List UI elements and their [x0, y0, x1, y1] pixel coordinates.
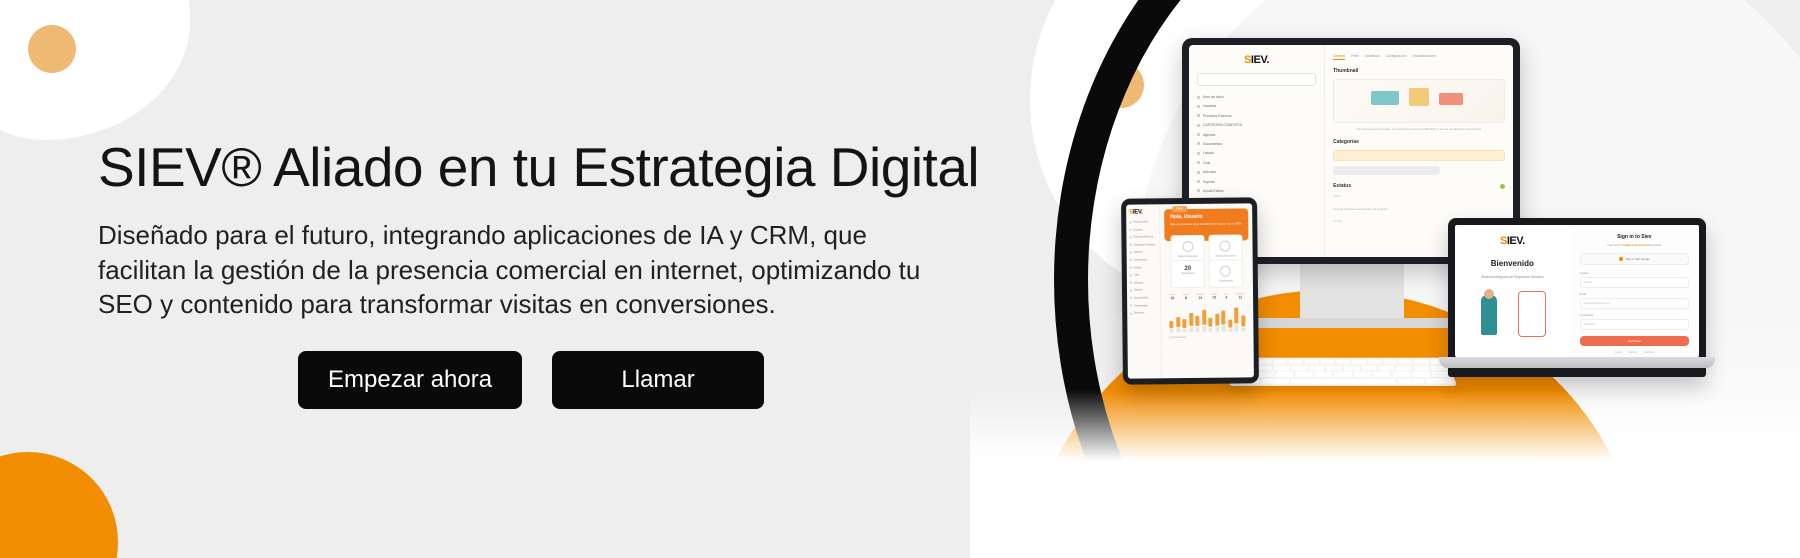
tablet-menu-item-label: Chat [1134, 274, 1139, 277]
tablet-chart-bar [1195, 316, 1199, 332]
tablet-menu-item[interactable]: Usuarios [1129, 228, 1156, 231]
monitor-tab[interactable]: Perfil [1351, 54, 1359, 60]
tablet-menu-item-label: Documentos [1134, 258, 1147, 261]
bullet-icon [1197, 105, 1200, 108]
bullet-icon [1197, 171, 1200, 174]
monitor-menu-item-label: Soporte [1203, 180, 1215, 184]
laptop-device: SIEV. Bienvenido Sistema Integrado de Em… [1448, 218, 1706, 377]
monitor-menu-item[interactable]: Documentos [1197, 142, 1316, 146]
bullet-icon [1197, 180, 1200, 183]
tablet-menu-item-label: Artículos [1134, 281, 1143, 284]
google-signin-button[interactable]: Sign in with Google [1580, 253, 1689, 265]
monitor-thumbnail-heading: Thumbnail [1333, 68, 1505, 74]
laptop-field-input[interactable]: Usuario [1580, 277, 1689, 288]
bullet-icon [1130, 289, 1132, 291]
keyboard-row [1241, 360, 1445, 365]
bullet-icon [1130, 274, 1132, 276]
tablet-stat: Clientes14 [1196, 294, 1204, 300]
tablet-chart-bar [1215, 314, 1219, 332]
hero-banner: SIEV. Área de InicioUsuariosProcesos Ext… [0, 0, 1800, 558]
laptop-field-label: Contraseña [1580, 314, 1689, 317]
bullet-icon [1130, 282, 1132, 284]
monitor-menu-item[interactable]: Articulos [1197, 170, 1316, 174]
monitor-menu-item-label: Ayuda Estilos [1203, 189, 1223, 193]
monitor-menu-item-label: Articulos [1203, 170, 1216, 174]
laptop-form-fields: UsuarioUsuarioEmailejemplo@dominio.comCo… [1580, 272, 1689, 330]
tablet-tile-icon [1182, 241, 1193, 252]
monitor-menu-list: Área de InicioUsuariosProcesos ExternosC… [1197, 95, 1316, 212]
illustration-head-icon [1484, 289, 1494, 299]
tablet-chart-bar [1235, 308, 1239, 332]
laptop-illustration-icon [1463, 287, 1562, 341]
monitor-menu-item[interactable]: Usuarios [1197, 104, 1316, 108]
bullet-icon [1129, 229, 1131, 231]
monitor-menu-item-label: Procesos Externos [1203, 114, 1231, 118]
tablet-tile-icon [1220, 265, 1231, 276]
monitor-menu-item[interactable]: CATEGORIA COMPLETA [1197, 123, 1316, 127]
laptop-signin-panel: Sign in to Siev New here? Create an Acco… [1570, 225, 1699, 357]
tablet-menu-item-label: Área de Inicio [1133, 220, 1148, 223]
tablet-stat-value: 75 [1211, 296, 1217, 300]
bullet-icon [1197, 133, 1200, 136]
monitor-tab[interactable]: Visualizaciones [1413, 54, 1436, 60]
tablet-stat-value: 8 [1183, 296, 1189, 300]
laptop-footer-link[interactable]: Soporte [1629, 351, 1637, 354]
tablet-chart-bar [1228, 319, 1232, 331]
keyboard[interactable] [1229, 358, 1458, 386]
logo-rest: IEV. [1507, 235, 1525, 247]
monitor-thumbnail-preview [1333, 79, 1505, 123]
tablet-main-panel: Panel Hola, Usuario Este es el resumen d… [1160, 203, 1254, 378]
tablet-menu-item[interactable]: Soporte [1130, 289, 1157, 292]
laptop-welcome-heading: Bienvenido [1463, 259, 1562, 268]
hero-visual-panel: SIEV. Área de InicioUsuariosProcesos Ext… [970, 0, 1800, 558]
tablet-menu-item[interactable]: Perfiles [1130, 266, 1157, 269]
tablet-menu-item-label: Oportunidad [1134, 304, 1147, 307]
tablet-tile-label: Suscriptores [1174, 271, 1202, 275]
tablet-menu-item-label: Soporte [1134, 289, 1142, 292]
tablet-stat-tile[interactable]: 20Suscriptores [1171, 259, 1205, 288]
bullet-icon [1130, 312, 1132, 314]
bullet-icon [1197, 152, 1200, 155]
monitor-menu-item[interactable]: Soporte [1197, 180, 1316, 184]
keyboard-row [1233, 378, 1454, 383]
bullet-icon [1130, 244, 1132, 246]
monitor-workspace-select[interactable] [1197, 73, 1316, 86]
laptop-signin-note: New here? Create an Account Bienvenido [1580, 243, 1689, 247]
monitor-tab[interactable]: General [1333, 54, 1345, 60]
bullet-icon [1197, 161, 1200, 164]
tablet-menu-item[interactable]: Procesos Externos [1129, 236, 1156, 239]
tablet-device: SIEV. Área de InicioUsuariosProcesos Ext… [1121, 197, 1259, 384]
monitor-tab-bar: GeneralPerfilAnalíticasConfiguraciónVisu… [1333, 54, 1505, 60]
tablet-sidebar: SIEV. Área de InicioUsuariosProcesos Ext… [1126, 204, 1162, 378]
thumb-shape-b [1409, 88, 1429, 106]
laptop-signin-title: Sign in to Siev [1580, 234, 1689, 240]
tablet-stat-value: 32 [1169, 296, 1176, 300]
tablet-menu-item[interactable]: Área de Inicio [1129, 220, 1156, 223]
page-title: SIEV® Aliado en tu Estrategia Digital [98, 138, 968, 196]
bullet-icon [1130, 305, 1132, 307]
tablet-chart-bar [1169, 322, 1173, 333]
monitor-menu-item-label: Listado [1203, 151, 1214, 155]
tablet-menu-item-label: Ayuda Estilos [1134, 296, 1148, 299]
tablet-tile-row-bottom: 20SuscriptoresColaboración [1171, 259, 1243, 288]
monitor-status-row: Estatus [1333, 183, 1505, 189]
tablet-stat-value: 14 [1196, 296, 1204, 300]
laptop-field-label: Email [1580, 293, 1689, 296]
tablet-menu-item[interactable]: Documentos [1130, 258, 1157, 261]
tablet-menu-item[interactable]: Ayuda Estilos [1130, 296, 1157, 299]
laptop-screen: SIEV. Bienvenido Sistema Integrado de Em… [1455, 225, 1699, 357]
tablet-chart-bar [1176, 317, 1180, 332]
tablet-stat: Leads75 [1211, 294, 1217, 300]
tablet-badge: Panel [1172, 206, 1187, 212]
laptop-welcome-sub: Sistema Integrado de Empresas Virtuales [1463, 275, 1562, 279]
tablet-menu-item-label: Resumen [1134, 312, 1144, 315]
monitor-menu-item[interactable]: Procesos Externos [1197, 114, 1316, 118]
bullet-icon [1197, 142, 1200, 145]
google-signin-label: Sign in with Google [1626, 257, 1650, 261]
signin-note-suffix: Bienvenido [1647, 243, 1661, 247]
tablet-tile-icon [1220, 240, 1231, 251]
tablet-stat: Total/Mes11 [1236, 294, 1245, 300]
logo-rest: IEV. [1133, 209, 1143, 215]
hero-actions: Empezar ahora Llamar [98, 351, 968, 409]
laptop-field-label: Usuario [1580, 272, 1689, 275]
laptop-lid: SIEV. Bienvenido Sistema Integrado de Em… [1448, 218, 1706, 377]
laptop-field-input[interactable]: ejemplo@dominio.com [1580, 298, 1689, 309]
monitor-menu-item[interactable]: Ayuda Estilos [1197, 189, 1316, 193]
tablet-stat-row: Ventas32Visitas8Clientes14Leads75Tasa4To… [1165, 293, 1249, 300]
monitor-menu-item[interactable]: Listado [1197, 151, 1316, 155]
signin-create-account-link[interactable]: Create an Account [1622, 243, 1647, 247]
bullet-icon [1130, 267, 1132, 269]
laptop-welcome-panel: SIEV. Bienvenido Sistema Integrado de Em… [1455, 225, 1570, 357]
device-mockups: SIEV. Área de InicioUsuariosProcesos Ext… [970, 0, 1800, 558]
tablet-chart-bar [1189, 313, 1193, 332]
decor-orange-circle-icon [0, 452, 118, 558]
tablet-menu-item[interactable]: Agencia [1130, 251, 1157, 254]
monitor-menu-item-label: Usuarios [1203, 104, 1216, 108]
keyboard-row [1238, 365, 1447, 370]
tablet-chart-bar [1208, 318, 1212, 332]
laptop-logo: SIEV. [1463, 235, 1562, 247]
call-button[interactable]: Llamar [552, 351, 764, 409]
monitor-menu-item-label: Agencia [1203, 133, 1215, 137]
monitor-menu-item-label: Documentos [1203, 142, 1222, 146]
logo-rest: IEV. [1251, 54, 1269, 66]
tablet-stat-tile[interactable]: Colaboración [1209, 259, 1243, 288]
tablet-tile-label: Colaboración [1212, 279, 1240, 283]
tablet-menu-item[interactable]: Oportunidad [1130, 304, 1157, 307]
tablet-stat-value: 4 [1224, 296, 1229, 300]
tablet-chart-bar [1221, 311, 1225, 332]
laptop-base [1439, 357, 1715, 368]
thumb-shape-c [1439, 93, 1463, 106]
tablet-tile-label: Medios Categorías [1174, 255, 1202, 259]
bullet-icon [1130, 259, 1132, 261]
tablet-bar-chart [1165, 305, 1249, 332]
tablet-stat: Ventas32 [1169, 294, 1176, 300]
tablet-tile-label: Nuevos Elementos [1212, 254, 1240, 258]
bullet-icon [1197, 189, 1200, 192]
tablet-menu-item-label: Perfiles [1134, 266, 1142, 269]
tablet-stat: Tasa4 [1224, 294, 1229, 300]
start-now-button[interactable]: Empezar ahora [298, 351, 522, 409]
thumb-shape-a [1371, 91, 1398, 105]
google-icon [1619, 257, 1623, 261]
tablet-chart-bar [1241, 316, 1245, 332]
tablet-menu-item[interactable]: Categoría Completa [1129, 243, 1156, 246]
illustration-person-icon [1481, 295, 1497, 335]
tablet-menu-item-label: Usuarios [1133, 228, 1142, 231]
tablet-stat: Visitas8 [1183, 294, 1189, 300]
bullet-icon [1130, 251, 1132, 253]
bullet-icon [1197, 96, 1200, 99]
tablet-chart-bar [1202, 309, 1206, 331]
tablet-menu-item[interactable]: Resumen [1130, 311, 1157, 314]
monitor-menu-item-label: Área de Inicio [1203, 95, 1224, 99]
monitor-status-label: Activo [1333, 194, 1505, 198]
monitor-categories-heading: Categorías [1333, 139, 1505, 145]
bullet-icon [1129, 221, 1131, 223]
monitor-field-label: Generar una breve descripción del produc… [1333, 207, 1505, 211]
tablet-menu-item-label: Agencia [1134, 251, 1143, 254]
laptop-footer-link[interactable]: Términos [1644, 351, 1654, 354]
bullet-icon [1130, 297, 1132, 299]
laptop-field-input[interactable]: Password [1580, 319, 1689, 330]
tablet-menu-list: Área de InicioUsuariosProcesos ExternosC… [1129, 220, 1157, 314]
illustration-phone-icon [1518, 291, 1546, 337]
tablet-greeting-sub: Este es el resumen de la actividad de tu… [1170, 222, 1242, 227]
laptop-footer-link[interactable]: Ayuda [1615, 351, 1622, 354]
keyboard-row [1236, 372, 1451, 377]
decor-white-blob-icon [0, 0, 190, 140]
desk-surface [970, 390, 1800, 558]
monitor-tab[interactable]: Configuración [1386, 54, 1407, 60]
monitor-category-chip[interactable] [1333, 150, 1505, 161]
tablet-logo: SIEV. [1129, 209, 1156, 215]
tablet-stat-value: 11 [1236, 296, 1245, 300]
decor-tan-circle-icon [28, 25, 76, 73]
tablet-footer-user: Usuario Prueba [1165, 331, 1249, 339]
tablet-greeting: Hola, Usuario [1170, 213, 1242, 220]
bullet-icon [1197, 114, 1200, 117]
monitor-logo: SIEV. [1197, 54, 1316, 66]
laptop-footer-links: AyudaSoporteTérminos [1580, 351, 1689, 354]
bullet-icon [1129, 236, 1131, 238]
monitor-menu-item[interactable]: Agencia [1197, 133, 1316, 137]
tablet-chart-bar [1182, 319, 1186, 332]
tablet-menu-item-label: Procesos Externos [1133, 236, 1153, 239]
monitor-menu-item-label: CATEGORIA COMPLETA [1203, 123, 1242, 127]
monitor-base [1248, 318, 1456, 328]
hero-subtitle: Diseñado para el futuro, integrando apli… [98, 218, 948, 321]
tablet-menu-item[interactable]: Artículos [1130, 281, 1157, 284]
laptop-submit-button[interactable]: Continuar [1580, 336, 1689, 346]
hero-content: SIEV® Aliado en tu Estrategia Digital Di… [98, 138, 968, 409]
tablet-menu-item-label: Categoría Completa [1133, 243, 1154, 246]
monitor-add-category-button[interactable] [1333, 166, 1440, 175]
tablet-menu-item[interactable]: Chat [1130, 274, 1157, 277]
monitor-status-heading: Estatus [1333, 183, 1351, 189]
logo-s-mark: S [1244, 54, 1251, 66]
monitor-thumbnail-caption: Se recomienda una imagen con resolución … [1333, 127, 1505, 131]
tablet-screen: SIEV. Área de InicioUsuariosProcesos Ext… [1126, 203, 1254, 378]
logo-s-mark: S [1500, 235, 1507, 247]
status-indicator-icon [1500, 184, 1505, 189]
monitor-tab[interactable]: Analíticas [1365, 54, 1380, 60]
signin-note-prefix: New here? [1608, 243, 1622, 247]
bullet-icon [1197, 124, 1200, 127]
monitor-menu-item-label: Chat [1203, 161, 1210, 165]
monitor-stand [1300, 264, 1404, 320]
monitor-menu-item[interactable]: Chat [1197, 161, 1316, 165]
monitor-menu-item[interactable]: Área de Inicio [1197, 95, 1316, 99]
